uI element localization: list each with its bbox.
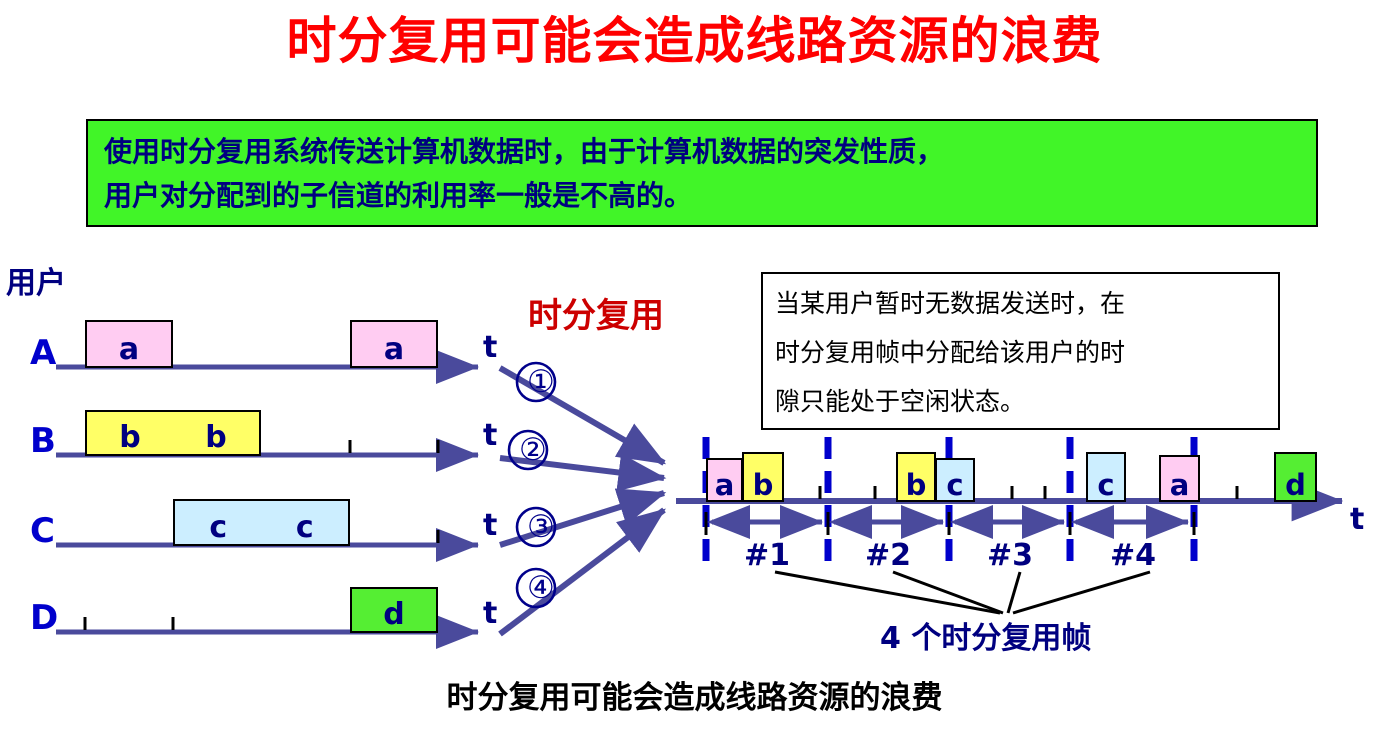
data-block-letter: b	[119, 423, 140, 454]
data-block-d-1: d	[350, 587, 438, 633]
green-note-box: 使用时分复用系统传送计算机数据时，由于计算机数据的突发性质， 用户对分配到的子信…	[86, 119, 1318, 227]
frame-number-2: #2	[838, 538, 938, 573]
data-block-c-1: c c	[173, 499, 350, 546]
side-note-line-1: 当某用户暂时无数据发送时，在	[775, 279, 1278, 328]
side-note-line-3: 隙只能处于空闲状态。	[775, 377, 1278, 426]
mux-converging-arrows	[500, 368, 664, 634]
mux-slot-letter: b	[906, 471, 927, 500]
tdm-label: 时分复用	[528, 288, 664, 337]
row-label-c: C	[30, 511, 55, 551]
mux-slot-2: b	[742, 452, 784, 502]
green-note-line-2: 用户对分配到的子信道的利用率一般是不高的。	[104, 174, 1302, 218]
frame-number-3: #3	[960, 538, 1060, 573]
mux-slot-letter: c	[946, 471, 963, 500]
mux-slot-letter: d	[1285, 471, 1306, 500]
data-block-a-1: a	[85, 320, 173, 368]
data-block-b-1: b b	[85, 410, 261, 456]
frame-number-4: #4	[1083, 538, 1183, 573]
data-block-letter: c	[296, 513, 314, 544]
row-label-b: B	[30, 421, 56, 461]
data-block-letter: b	[205, 423, 226, 454]
mux-slot-letter: c	[1097, 471, 1114, 500]
green-note-line-1: 使用时分复用系统传送计算机数据时，由于计算机数据的突发性质，	[104, 130, 1302, 174]
arrow-number-3: ③	[527, 512, 546, 543]
bottom-caption: 时分复用可能会造成线路资源的浪费	[0, 672, 1389, 717]
side-note-line-2: 时分复用帧中分配给该用户的时	[775, 328, 1278, 377]
data-block-letter: a	[384, 335, 404, 366]
row-a-axis-label: t	[483, 330, 497, 365]
row-label-a: A	[30, 333, 56, 373]
mux-slot-letter: a	[1170, 471, 1190, 500]
row-d-axis-label: t	[483, 596, 497, 631]
arrow-number-1: ①	[527, 367, 546, 398]
user-axis-label: 用户	[6, 258, 66, 302]
frame-number-1: #1	[717, 538, 817, 573]
side-note-box: 当某用户暂时无数据发送时，在 时分复用帧中分配给该用户的时 隙只能处于空闲状态。	[761, 272, 1280, 430]
mux-slot-7: d	[1274, 452, 1317, 502]
mux-slot-1: a	[706, 458, 743, 502]
data-block-a-2: a	[350, 320, 438, 368]
row-c-axis-label: t	[483, 508, 497, 543]
mux-slot-letter: b	[753, 471, 774, 500]
mux-slot-letter: a	[715, 471, 735, 500]
frames-caption: 4 个时分复用帧	[880, 613, 1091, 657]
row-label-d: D	[30, 598, 58, 638]
mux-slot-6: a	[1159, 455, 1200, 502]
slide-canvas: 时分复用可能会造成线路资源的浪费 使用时分复用系统传送计算机数据时，由于计算机数…	[0, 0, 1389, 732]
frame-caption-leader-lines	[775, 572, 1150, 613]
page-title: 时分复用可能会造成线路资源的浪费	[0, 14, 1389, 69]
mux-slot-5: c	[1086, 452, 1126, 502]
mux-axis-label: t	[1350, 502, 1364, 537]
frame-span-arrows	[706, 512, 1194, 535]
row-b-axis-label: t	[483, 418, 497, 453]
data-block-letter: a	[119, 335, 139, 366]
arrow-number-4: ④	[527, 573, 546, 604]
data-block-letter: c	[209, 513, 227, 544]
arrow-number-2: ②	[519, 435, 538, 466]
mux-slot-4: c	[935, 458, 975, 502]
data-block-letter: d	[383, 600, 404, 631]
mux-slot-3: b	[896, 452, 936, 502]
